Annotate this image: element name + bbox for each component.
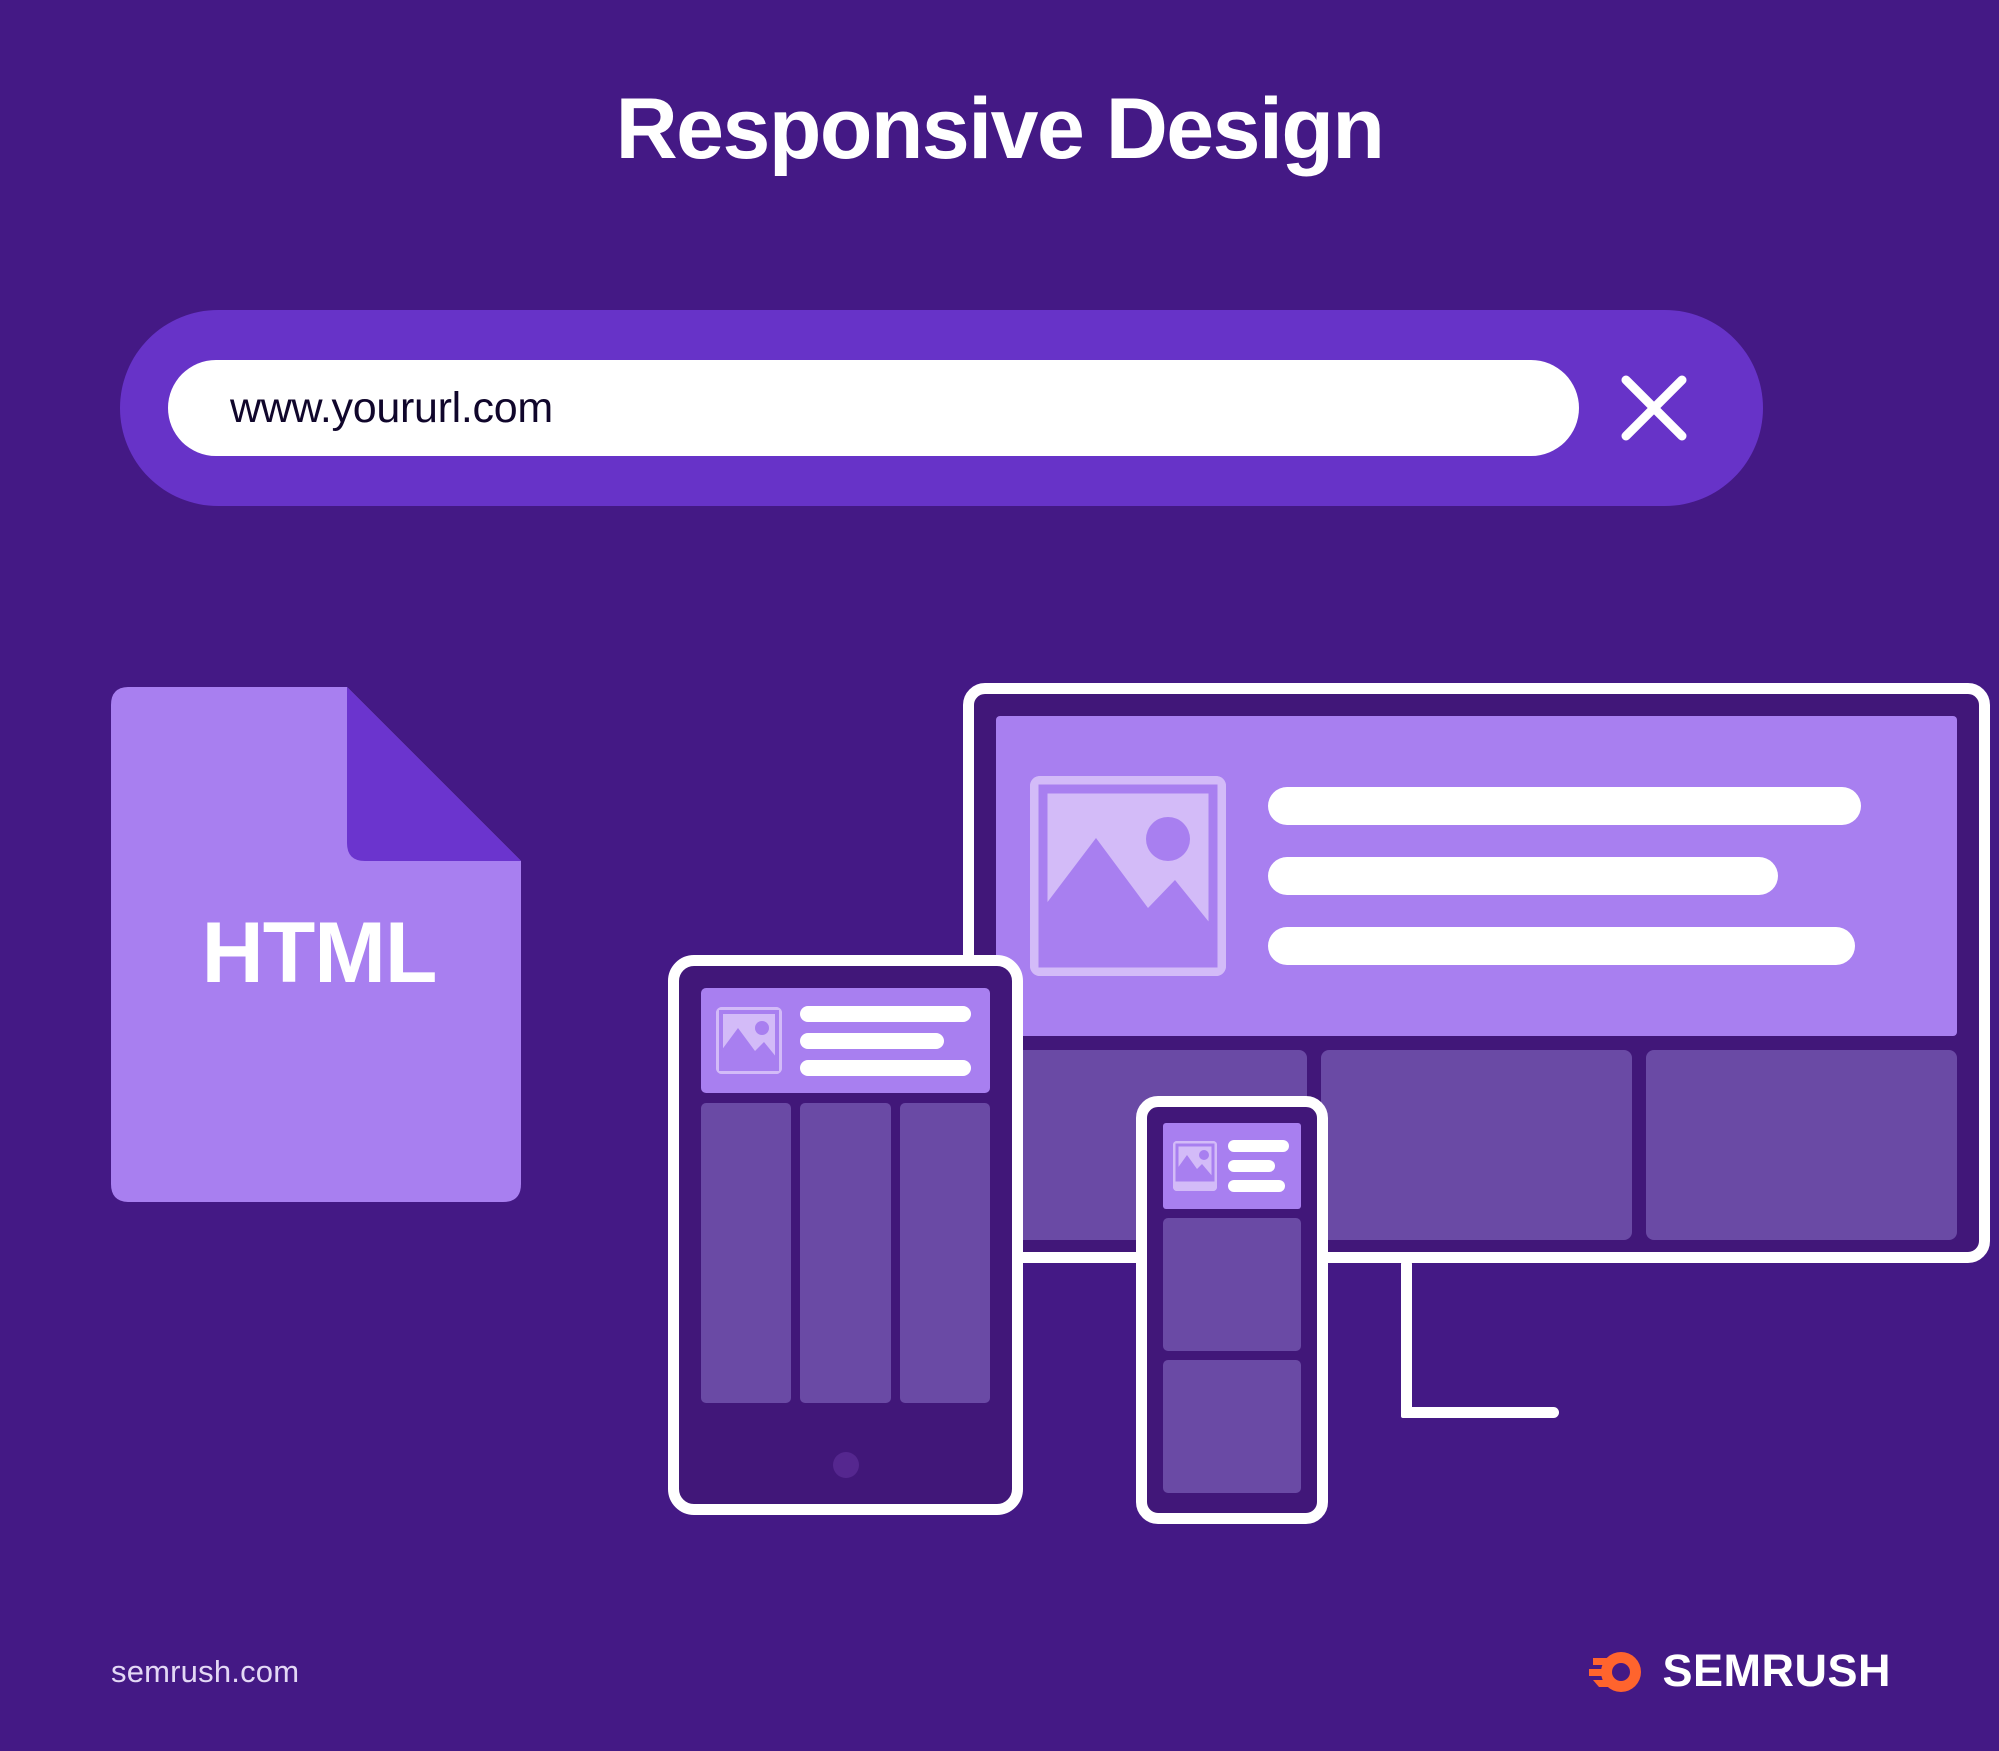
text-bar-3 xyxy=(1268,927,1855,965)
html-file-icon: HTML xyxy=(111,687,521,1202)
semrush-logo: SEMRUSH xyxy=(1587,1645,1891,1697)
image-placeholder-icon xyxy=(716,1007,782,1074)
text-bar-1 xyxy=(1228,1140,1289,1152)
text-bar-3 xyxy=(800,1060,971,1076)
monitor-stand-post xyxy=(1401,1262,1412,1418)
text-bar-2 xyxy=(800,1033,944,1049)
phone-text-bars xyxy=(1228,1140,1291,1192)
image-placeholder-icon xyxy=(1030,776,1226,976)
clear-button[interactable] xyxy=(1579,348,1729,468)
site-url-text: semrush.com xyxy=(111,1654,299,1690)
desktop-monitor[interactable] xyxy=(963,683,1990,1263)
text-bar-2 xyxy=(1228,1160,1275,1172)
phone-card-stack xyxy=(1163,1218,1301,1493)
monitor-hero-panel xyxy=(996,716,1957,1036)
content-column-2[interactable] xyxy=(800,1103,890,1403)
phone-hero-panel xyxy=(1163,1123,1301,1209)
content-column-1[interactable] xyxy=(701,1103,791,1403)
text-bar-3 xyxy=(1228,1180,1285,1192)
semrush-wordmark: SEMRUSH xyxy=(1662,1645,1891,1697)
url-search-bar xyxy=(120,310,1763,506)
content-card-2[interactable] xyxy=(1163,1360,1301,1493)
content-column-3[interactable] xyxy=(900,1103,990,1403)
content-card-2[interactable] xyxy=(1321,1050,1632,1240)
tablet-device[interactable] xyxy=(668,955,1023,1515)
close-x-icon xyxy=(1617,371,1691,445)
semrush-comet-icon xyxy=(1587,1648,1645,1694)
tablet-text-bars xyxy=(800,1006,975,1076)
tablet-column-row xyxy=(701,1103,990,1403)
content-card-1[interactable] xyxy=(1163,1218,1301,1351)
text-bar-1 xyxy=(1268,787,1861,825)
page-title: Responsive Design xyxy=(0,86,1999,172)
content-card-3[interactable] xyxy=(1646,1050,1957,1240)
monitor-text-bars xyxy=(1268,787,1923,965)
text-bar-1 xyxy=(800,1006,971,1022)
tablet-home-button[interactable] xyxy=(833,1452,859,1478)
tablet-hero-panel xyxy=(701,988,990,1093)
mobile-phone-device[interactable] xyxy=(1136,1096,1328,1524)
url-input[interactable] xyxy=(168,360,1579,456)
monitor-stand-base xyxy=(1401,1407,1559,1418)
html-file-label: HTML xyxy=(111,687,521,1202)
text-bar-2 xyxy=(1268,857,1778,895)
image-placeholder-icon xyxy=(1173,1141,1217,1191)
